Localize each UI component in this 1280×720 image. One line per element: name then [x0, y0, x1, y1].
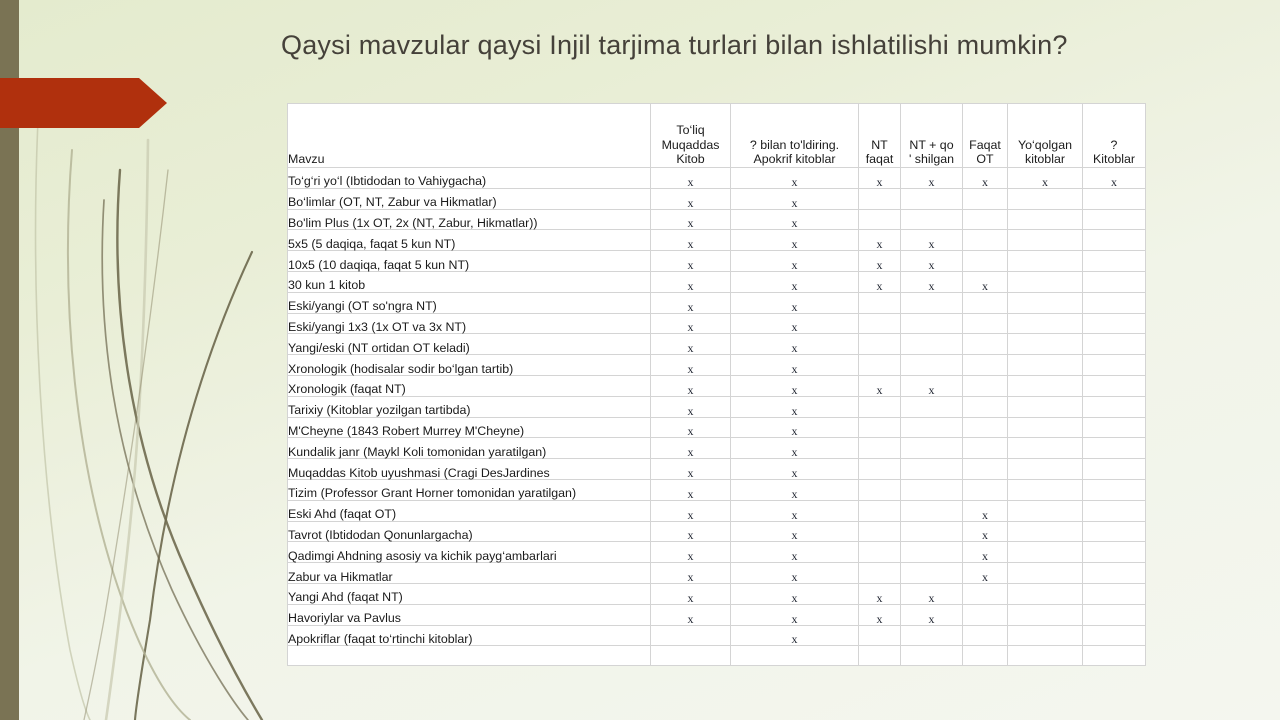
mark-cell: x	[651, 313, 731, 334]
mark-cell: x	[1083, 168, 1146, 189]
topic-cell: M'Cheyne (1843 Robert Murrey M'Cheyne)	[288, 417, 651, 438]
table-container: MavzuTo‘liqMuqaddasKitob ? bilan to'ldir…	[287, 103, 1145, 666]
mark-cell: x	[859, 604, 901, 625]
header-line: Kitoblar	[1083, 152, 1145, 167]
header-line: NT + qo	[901, 138, 962, 153]
mark-cell	[1008, 542, 1083, 563]
mark-cell	[963, 230, 1008, 251]
bible-reading-plans-table: MavzuTo‘liqMuqaddasKitob ? bilan to'ldir…	[287, 103, 1146, 666]
mark-cell	[901, 500, 963, 521]
mark-cell: x	[963, 500, 1008, 521]
mark-cell: x	[651, 542, 731, 563]
mark-cell	[963, 625, 1008, 646]
arrow-banner-shape	[0, 78, 167, 128]
mark-cell: x	[731, 396, 859, 417]
mark-cell	[901, 209, 963, 230]
mark-cell	[963, 479, 1008, 500]
mark-cell: x	[651, 188, 731, 209]
topic-cell: Eski Ahd (faqat OT)	[288, 500, 651, 521]
mark-cell	[1083, 355, 1146, 376]
mark-cell: x	[963, 271, 1008, 292]
header-line	[288, 123, 650, 138]
mark-cell	[1083, 375, 1146, 396]
header-line: Yo‘qolgan	[1008, 138, 1082, 153]
mark-cell: x	[731, 168, 859, 189]
table-row: Kundalik janr (Maykl Koli tomonidan yara…	[288, 438, 1146, 459]
table-row: Bo'lim Plus (1x OT, 2x (NT, Zabur, Hikma…	[288, 209, 1146, 230]
mark-cell: x	[731, 251, 859, 272]
mark-cell: x	[901, 583, 963, 604]
mark-cell: x	[731, 459, 859, 480]
table-row: Bo‘limlar (OT, NT, Zabur va Hikmatlar)xx	[288, 188, 1146, 209]
mark-cell	[1008, 188, 1083, 209]
mark-cell	[1008, 271, 1083, 292]
mark-cell	[859, 396, 901, 417]
mark-cell: x	[731, 209, 859, 230]
table-row: 10x5 (10 daqiqa, faqat 5 kun NT)xxxx	[288, 251, 1146, 272]
header-line: kitoblar	[1008, 152, 1082, 167]
mark-cell	[1083, 604, 1146, 625]
mark-cell	[1008, 459, 1083, 480]
mark-cell: x	[651, 563, 731, 584]
table-row: 30 kun 1 kitobxxxxx	[288, 271, 1146, 292]
mark-cell: x	[651, 230, 731, 251]
mark-cell	[1083, 334, 1146, 355]
mark-cell	[859, 479, 901, 500]
mark-cell: x	[731, 563, 859, 584]
mark-cell	[963, 251, 1008, 272]
mark-cell: x	[963, 168, 1008, 189]
mark-cell	[963, 375, 1008, 396]
mark-cell	[859, 438, 901, 459]
mark-cell: x	[731, 375, 859, 396]
mark-cell	[1008, 583, 1083, 604]
mark-cell	[859, 334, 901, 355]
mark-cell: x	[651, 459, 731, 480]
topic-cell	[288, 646, 651, 666]
mark-cell	[1083, 188, 1146, 209]
mark-cell	[1083, 417, 1146, 438]
mark-cell	[1083, 500, 1146, 521]
mark-cell	[1083, 542, 1146, 563]
mark-cell: x	[731, 271, 859, 292]
mark-cell	[1008, 500, 1083, 521]
table-row: Yangi/eski (NT ortidan OT keladi)xx	[288, 334, 1146, 355]
mark-cell	[1008, 375, 1083, 396]
topic-cell: 30 kun 1 kitob	[288, 271, 651, 292]
mark-cell	[1008, 251, 1083, 272]
mark-cell: x	[731, 417, 859, 438]
mark-cell: x	[651, 417, 731, 438]
mark-cell: x	[901, 168, 963, 189]
mark-cell	[1008, 355, 1083, 376]
mark-cell	[859, 188, 901, 209]
mark-cell	[901, 459, 963, 480]
header-line	[731, 123, 858, 138]
mark-cell	[1008, 334, 1083, 355]
mark-cell: x	[731, 334, 859, 355]
mark-cell: x	[651, 251, 731, 272]
column-header-6: Yo‘qolgankitoblar	[1008, 104, 1083, 168]
mark-cell	[963, 188, 1008, 209]
mark-cell	[901, 355, 963, 376]
table-row	[288, 646, 1146, 666]
mark-cell	[901, 438, 963, 459]
topic-cell: 10x5 (10 daqiqa, faqat 5 kun NT)	[288, 251, 651, 272]
table-row: Havoriylar va Pavlusxxxx	[288, 604, 1146, 625]
mark-cell	[901, 542, 963, 563]
header-line: ? bilan to'ldiring.	[731, 138, 858, 153]
table-row: Muqaddas Kitob uyushmasi (Cragi DesJardi…	[288, 459, 1146, 480]
table-body: To‘g‘ri yo‘l (Ibtidodan to Vahiygacha)xx…	[288, 168, 1146, 666]
mark-cell: x	[859, 251, 901, 272]
mark-cell	[1083, 625, 1146, 646]
mark-cell	[859, 313, 901, 334]
mark-cell	[859, 459, 901, 480]
column-header-4: NT + qo' shilgan	[901, 104, 963, 168]
mark-cell	[963, 292, 1008, 313]
table-row: Eski Ahd (faqat OT)xxx	[288, 500, 1146, 521]
mark-cell	[901, 563, 963, 584]
mark-cell	[651, 646, 731, 666]
mark-cell	[1083, 396, 1146, 417]
mark-cell	[1008, 292, 1083, 313]
header-line: Apokrif kitoblar	[731, 152, 858, 167]
mark-cell: x	[859, 271, 901, 292]
table-row: Apokriflar (faqat to‘rtinchi kitoblar)x	[288, 625, 1146, 646]
mark-cell	[901, 646, 963, 666]
mark-cell	[859, 417, 901, 438]
mark-cell	[901, 292, 963, 313]
mark-cell	[1008, 396, 1083, 417]
header-line	[1083, 123, 1145, 138]
topic-cell: Eski/yangi 1x3 (1x OT va 3x NT)	[288, 313, 651, 334]
mark-cell: x	[963, 563, 1008, 584]
topic-cell: Qadimgi Ahdning asosiy va kichik payg‘am…	[288, 542, 651, 563]
table-row: Eski/yangi 1x3 (1x OT va 3x NT)xx	[288, 313, 1146, 334]
topic-cell: Havoriylar va Pavlus	[288, 604, 651, 625]
table-row: Yangi Ahd (faqat NT)xxxx	[288, 583, 1146, 604]
topic-cell: Eski/yangi (OT so'ngra NT)	[288, 292, 651, 313]
header-line: faqat	[859, 152, 900, 167]
header-line: Faqat	[963, 138, 1007, 153]
topic-cell: Kundalik janr (Maykl Koli tomonidan yara…	[288, 438, 651, 459]
mark-cell	[901, 396, 963, 417]
mark-cell	[859, 355, 901, 376]
mark-cell: x	[651, 438, 731, 459]
mark-cell: x	[963, 542, 1008, 563]
mark-cell	[963, 355, 1008, 376]
mark-cell: x	[731, 313, 859, 334]
mark-cell: x	[731, 230, 859, 251]
topic-cell: Zabur va Hikmatlar	[288, 563, 651, 584]
mark-cell: x	[731, 521, 859, 542]
mark-cell	[963, 604, 1008, 625]
mark-cell: x	[651, 209, 731, 230]
mark-cell: x	[651, 396, 731, 417]
mark-cell: x	[651, 500, 731, 521]
mark-cell	[651, 625, 731, 646]
header-line: OT	[963, 152, 1007, 167]
mark-cell	[1008, 230, 1083, 251]
topic-cell: Yangi Ahd (faqat NT)	[288, 583, 651, 604]
header-line: ?	[1083, 138, 1145, 153]
mark-cell	[1083, 251, 1146, 272]
mark-cell	[1083, 209, 1146, 230]
topic-cell: Yangi/eski (NT ortidan OT keladi)	[288, 334, 651, 355]
mark-cell	[1008, 563, 1083, 584]
table-row: To‘g‘ri yo‘l (Ibtidodan to Vahiygacha)xx…	[288, 168, 1146, 189]
mark-cell	[1083, 479, 1146, 500]
header-line: ' shilgan	[901, 152, 962, 167]
mark-cell: x	[901, 271, 963, 292]
mark-cell	[859, 292, 901, 313]
mark-cell	[901, 417, 963, 438]
mark-cell	[901, 521, 963, 542]
topic-cell: To‘g‘ri yo‘l (Ibtidodan to Vahiygacha)	[288, 168, 651, 189]
table-row: Xronologik (faqat NT)xxxx	[288, 375, 1146, 396]
mark-cell: x	[901, 251, 963, 272]
mark-cell: x	[651, 292, 731, 313]
mark-cell	[901, 479, 963, 500]
topic-cell: Bo'lim Plus (1x OT, 2x (NT, Zabur, Hikma…	[288, 209, 651, 230]
table-row: Xronologik (hodisalar sodir bo‘lgan tart…	[288, 355, 1146, 376]
header-line	[1008, 123, 1082, 138]
mark-cell: x	[901, 375, 963, 396]
mark-cell	[901, 625, 963, 646]
mark-cell	[1008, 438, 1083, 459]
column-header-2: ? bilan to'ldiring.Apokrif kitoblar	[731, 104, 859, 168]
mark-cell: x	[651, 355, 731, 376]
column-header-5: FaqatOT	[963, 104, 1008, 168]
topic-cell: Bo‘limlar (OT, NT, Zabur va Hikmatlar)	[288, 188, 651, 209]
table-row: Eski/yangi (OT so'ngra NT)xx	[288, 292, 1146, 313]
table-row: Qadimgi Ahdning asosiy va kichik payg‘am…	[288, 542, 1146, 563]
table-row: Tavrot (Ibtidodan Qonunlargacha)xxx	[288, 521, 1146, 542]
mark-cell	[1008, 521, 1083, 542]
mark-cell: x	[963, 521, 1008, 542]
mark-cell	[1008, 417, 1083, 438]
mark-cell: x	[901, 230, 963, 251]
mark-cell	[901, 188, 963, 209]
header-line: NT	[859, 138, 900, 153]
topic-cell: Xronologik (hodisalar sodir bo‘lgan tart…	[288, 355, 651, 376]
mark-cell	[963, 396, 1008, 417]
mark-cell: x	[731, 355, 859, 376]
mark-cell: x	[731, 479, 859, 500]
mark-cell: x	[651, 375, 731, 396]
header-line: To‘liq	[651, 123, 730, 138]
column-header-1: To‘liqMuqaddasKitob	[651, 104, 731, 168]
mark-cell: x	[651, 168, 731, 189]
mark-cell: x	[859, 583, 901, 604]
mark-cell	[1008, 646, 1083, 666]
mark-cell: x	[731, 542, 859, 563]
mark-cell: x	[731, 625, 859, 646]
page-title: Qaysi mavzular qaysi Injil tarjima turla…	[281, 30, 1181, 61]
mark-cell: x	[731, 500, 859, 521]
mark-cell: x	[859, 230, 901, 251]
mark-cell	[963, 583, 1008, 604]
mark-cell	[859, 209, 901, 230]
mark-cell: x	[651, 479, 731, 500]
mark-cell	[1083, 438, 1146, 459]
topic-cell: Tizim (Professor Grant Horner tomonidan …	[288, 479, 651, 500]
topic-cell: Xronologik (faqat NT)	[288, 375, 651, 396]
mark-cell	[1008, 479, 1083, 500]
mark-cell	[859, 500, 901, 521]
header-line	[963, 123, 1007, 138]
mark-cell	[731, 646, 859, 666]
mark-cell	[963, 209, 1008, 230]
mark-cell	[963, 459, 1008, 480]
mark-cell	[963, 646, 1008, 666]
header-line	[288, 138, 650, 153]
header-line: Kitob	[651, 152, 730, 167]
mark-cell	[859, 646, 901, 666]
mark-cell	[901, 313, 963, 334]
mark-cell: x	[651, 271, 731, 292]
topic-cell: Apokriflar (faqat to‘rtinchi kitoblar)	[288, 625, 651, 646]
topic-cell: Tarixiy (Kitoblar yozilgan tartibda)	[288, 396, 651, 417]
mark-cell	[1008, 313, 1083, 334]
mark-cell: x	[859, 375, 901, 396]
topic-cell: Tavrot (Ibtidodan Qonunlargacha)	[288, 521, 651, 542]
table-row: 5x5 (5 daqiqa, faqat 5 kun NT)xxxx	[288, 230, 1146, 251]
mark-cell: x	[1008, 168, 1083, 189]
table-row: M'Cheyne (1843 Robert Murrey M'Cheyne)xx	[288, 417, 1146, 438]
mark-cell	[963, 334, 1008, 355]
mark-cell: x	[651, 604, 731, 625]
mark-cell	[859, 542, 901, 563]
mark-cell	[1008, 604, 1083, 625]
table-row: Tarixiy (Kitoblar yozilgan tartibda)xx	[288, 396, 1146, 417]
mark-cell: x	[731, 604, 859, 625]
mark-cell: x	[731, 292, 859, 313]
table-header-row: MavzuTo‘liqMuqaddasKitob ? bilan to'ldir…	[288, 104, 1146, 168]
mark-cell: x	[731, 188, 859, 209]
mark-cell: x	[731, 438, 859, 459]
mark-cell	[963, 438, 1008, 459]
mark-cell	[859, 563, 901, 584]
mark-cell: x	[651, 583, 731, 604]
mark-cell	[1083, 271, 1146, 292]
mark-cell	[859, 521, 901, 542]
mark-cell	[1083, 521, 1146, 542]
mark-cell	[859, 625, 901, 646]
mark-cell	[1083, 313, 1146, 334]
header-line	[859, 123, 900, 138]
header-line	[901, 123, 962, 138]
mark-cell: x	[651, 521, 731, 542]
mark-cell	[1083, 563, 1146, 584]
mark-cell: x	[731, 583, 859, 604]
mark-cell	[1083, 583, 1146, 604]
mark-cell	[963, 313, 1008, 334]
mark-cell	[963, 417, 1008, 438]
column-header-topic: Mavzu	[288, 104, 651, 168]
table-row: Tizim (Professor Grant Horner tomonidan …	[288, 479, 1146, 500]
topic-cell: 5x5 (5 daqiqa, faqat 5 kun NT)	[288, 230, 651, 251]
topic-cell: Muqaddas Kitob uyushmasi (Cragi DesJardi…	[288, 459, 651, 480]
mark-cell: x	[901, 604, 963, 625]
mark-cell	[901, 334, 963, 355]
mark-cell	[1083, 292, 1146, 313]
header-line: Muqaddas	[651, 138, 730, 153]
column-header-3: NTfaqat	[859, 104, 901, 168]
table-header: MavzuTo‘liqMuqaddasKitob ? bilan to'ldir…	[288, 104, 1146, 168]
table-row: Zabur va Hikmatlarxxx	[288, 563, 1146, 584]
mark-cell	[1083, 646, 1146, 666]
mark-cell	[1008, 209, 1083, 230]
column-header-7: ?Kitoblar	[1083, 104, 1146, 168]
mark-cell	[1083, 230, 1146, 251]
mark-cell: x	[859, 168, 901, 189]
mark-cell	[1083, 459, 1146, 480]
header-line: Mavzu	[288, 152, 650, 167]
mark-cell	[1008, 625, 1083, 646]
mark-cell: x	[651, 334, 731, 355]
